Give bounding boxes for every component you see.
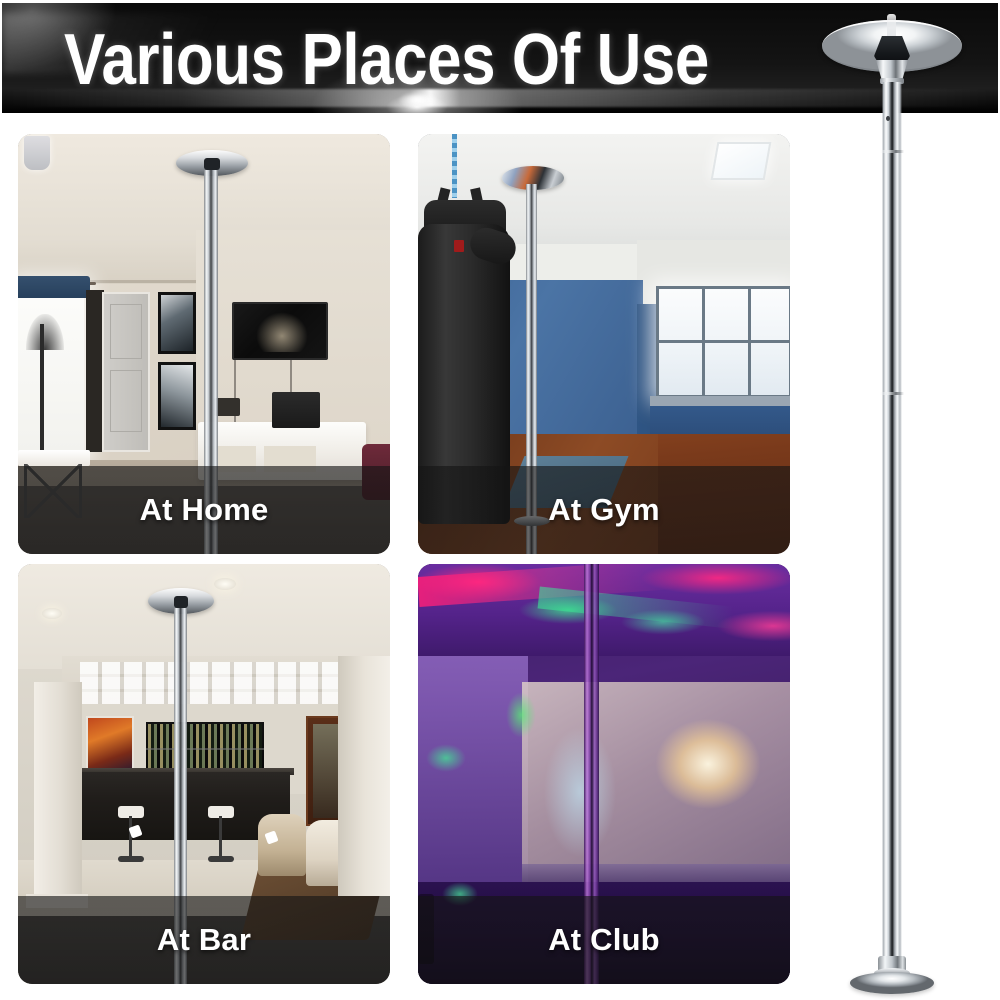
window	[18, 284, 84, 454]
recessed-light-left	[42, 608, 62, 619]
window-mullion-horizontal	[656, 340, 790, 343]
bag-label	[454, 240, 464, 252]
blue-chain	[452, 134, 457, 198]
tile-caption-band: At Bar	[18, 896, 390, 984]
shelf-divider	[146, 748, 264, 750]
floor-lamp-pole	[40, 324, 44, 458]
tile-caption-band: At Gym	[418, 466, 790, 554]
tile-caption-text: At Gym	[548, 492, 659, 528]
gallery-grid: At Home	[18, 134, 790, 984]
floor-lamp-shade	[26, 314, 64, 350]
pole-collar	[876, 60, 908, 80]
page-title: Various Places Of Use	[64, 15, 709, 105]
ceiling-light-panel	[711, 142, 772, 180]
gallery-tile-at-home[interactable]: At Home	[18, 134, 390, 554]
framed-print-top	[158, 292, 196, 354]
orange-artwork	[86, 716, 134, 774]
pole-joint-upper	[880, 150, 904, 153]
pole-shaft	[882, 82, 902, 976]
tile-caption-text: At Club	[548, 922, 660, 958]
armchair-left	[258, 814, 306, 876]
chandelier	[24, 136, 50, 170]
left-wall	[418, 624, 528, 924]
green-light-spot-1	[426, 744, 466, 772]
framed-print-bottom	[158, 362, 196, 430]
tile-caption-text: At Home	[140, 492, 269, 528]
pole-dome-knob	[174, 596, 188, 608]
blue-curtain	[18, 276, 90, 298]
bar-stool-2-base	[208, 856, 234, 862]
column-left	[34, 682, 82, 902]
ceiling	[18, 564, 390, 669]
coffered-ceiling-tiles	[80, 662, 340, 710]
window-mullion-v1	[702, 286, 705, 398]
tv-screen-glow	[256, 312, 308, 352]
projection-screen	[522, 682, 790, 882]
pole-screw-icon	[886, 116, 890, 121]
bar-stool-1-base	[118, 856, 144, 862]
pole-dome-knob	[204, 158, 220, 170]
door-panel-top	[110, 304, 142, 359]
bar-stool-2-post	[219, 816, 222, 858]
tile-caption-band: At Club	[418, 896, 790, 984]
pole-joint-lower	[880, 392, 904, 395]
tile-caption-band: At Home	[18, 466, 390, 554]
gallery-tile-at-gym[interactable]: At Gym	[418, 134, 790, 554]
speaker	[272, 392, 320, 428]
product-dance-pole	[806, 0, 1000, 1000]
gallery-tile-at-bar[interactable]: At Bar	[18, 564, 390, 984]
window-mullion-v2	[748, 286, 751, 398]
column-right	[338, 656, 390, 896]
gallery-tile-at-club[interactable]: At Club	[418, 564, 790, 984]
pole-floor-base	[850, 972, 934, 994]
recessed-light-right	[214, 578, 236, 590]
green-light-spot-3	[506, 692, 536, 738]
door-panel-bottom	[110, 370, 142, 432]
tile-caption-text: At Bar	[157, 922, 251, 958]
